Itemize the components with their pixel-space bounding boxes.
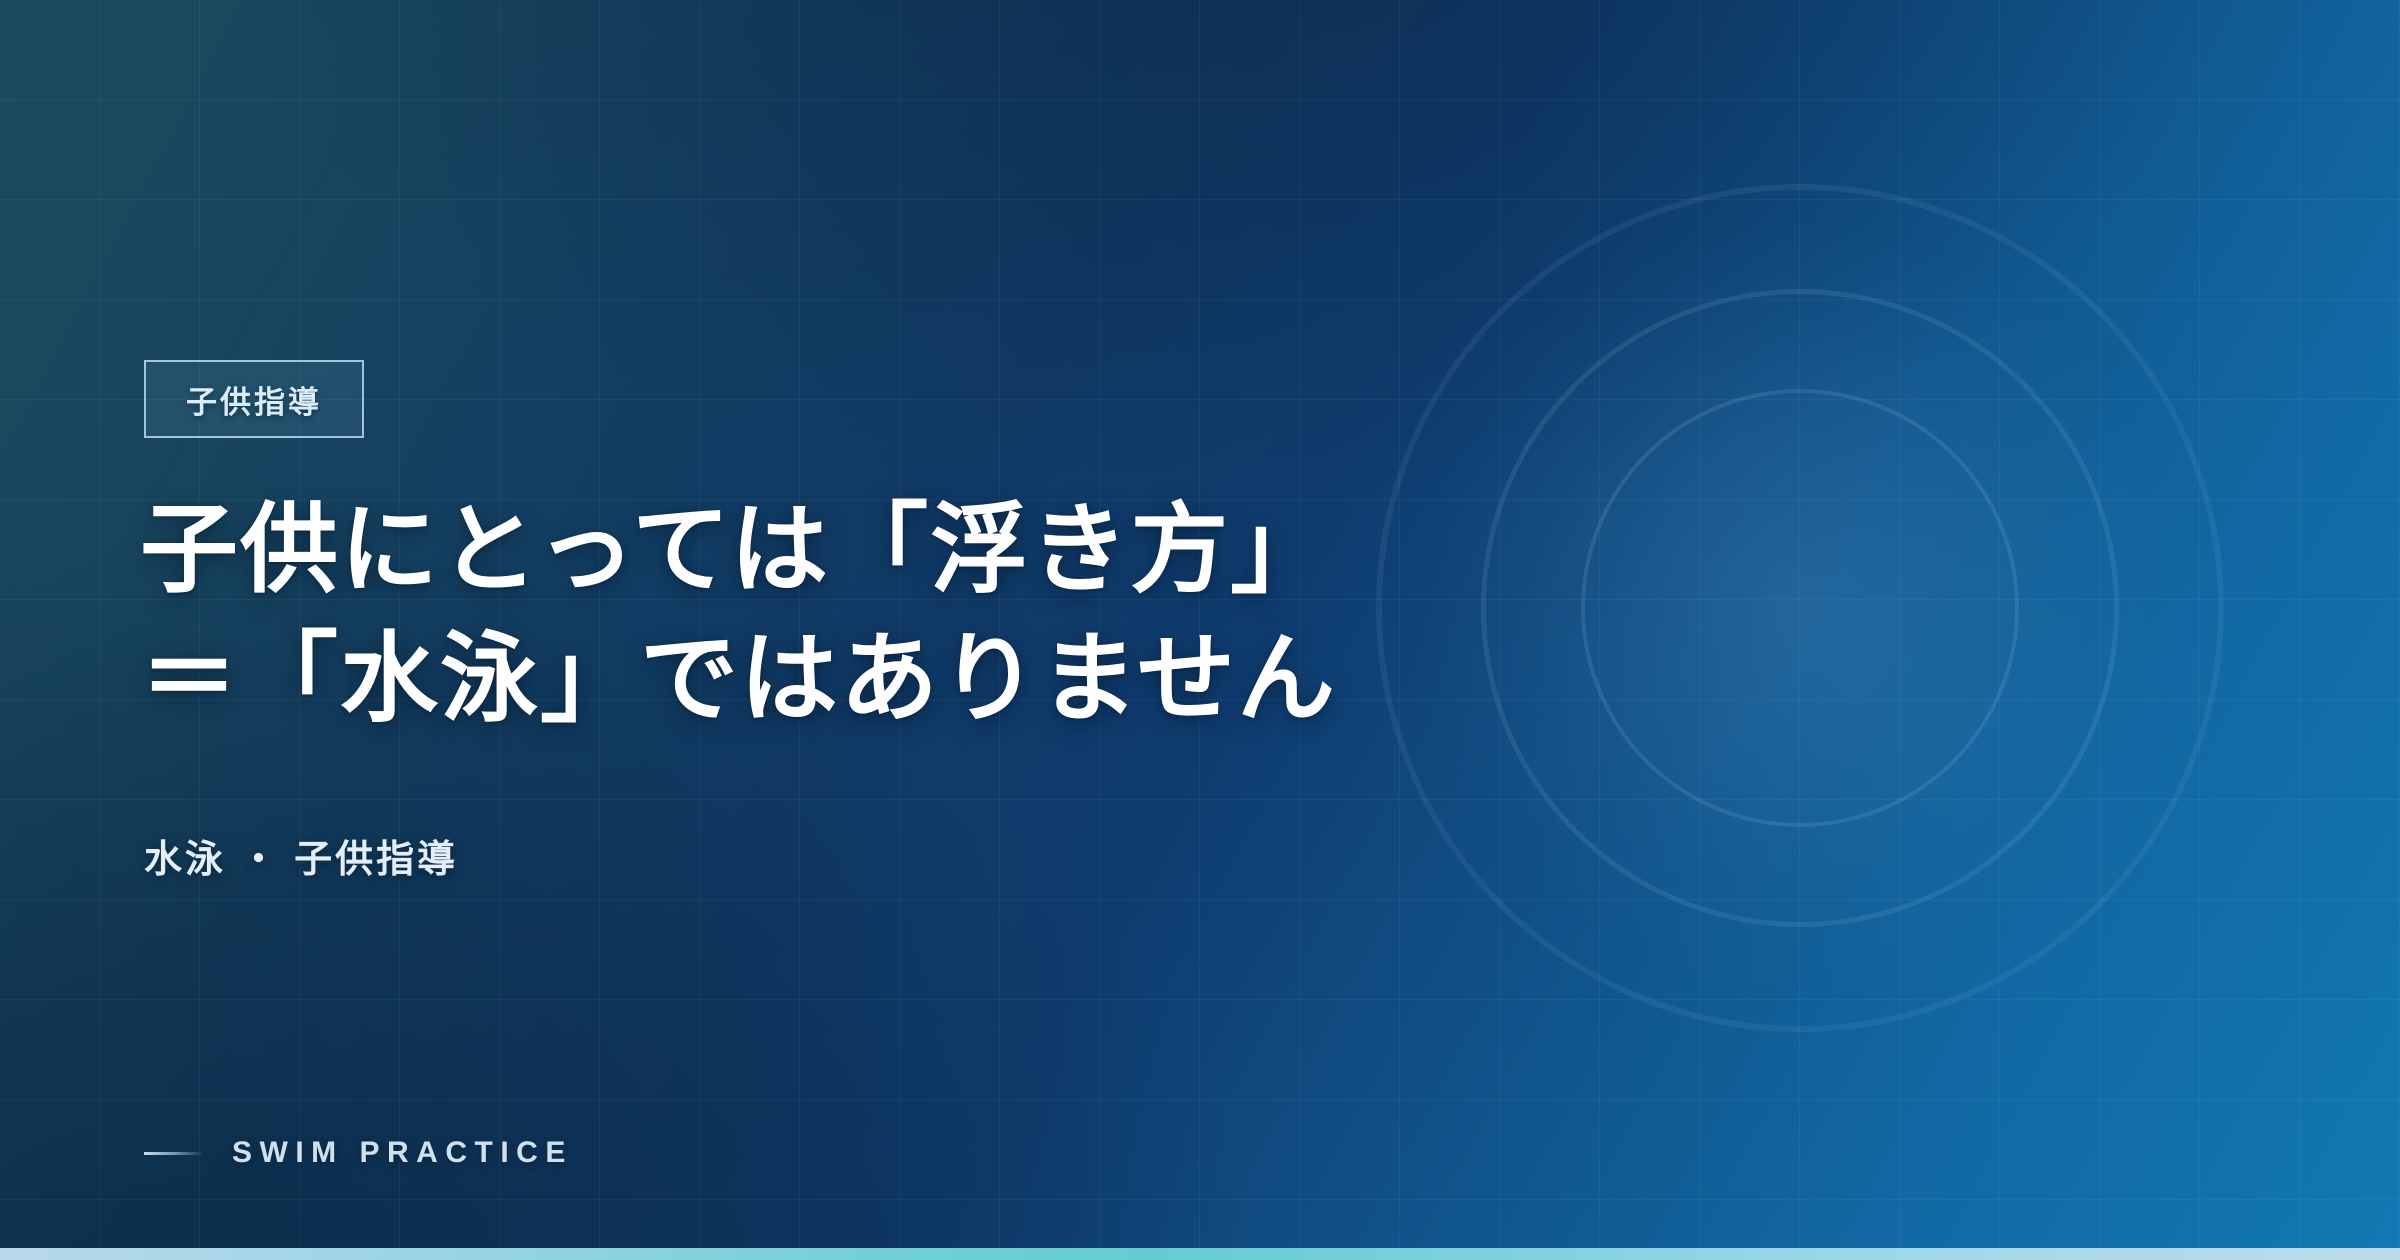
footer-brand-label: SWIM PRACTICE [232,1136,573,1170]
slide-title-line-1: 子供にとっては「浮き方」 [140,487,1700,616]
category-badge: 子供指導 [144,360,364,438]
title-slide: 子供指導 子供にとっては「浮き方」 ＝「水泳」ではありません 水泳 ・ 子供指導… [0,0,2400,1260]
bottom-accent-bar [0,1248,2400,1260]
slide-subtitle: 水泳 ・ 子供指導 [144,828,458,883]
slide-title-line-2: ＝「水泳」ではありません [140,616,1700,745]
slide-content: 子供指導 子供にとっては「浮き方」 ＝「水泳」ではありません 水泳 ・ 子供指導… [0,0,2400,1260]
slide-title: 子供にとっては「浮き方」 ＝「水泳」ではありません [140,487,1700,746]
slide-footer: SWIM PRACTICE [144,1136,573,1170]
dash-icon [144,1152,202,1155]
